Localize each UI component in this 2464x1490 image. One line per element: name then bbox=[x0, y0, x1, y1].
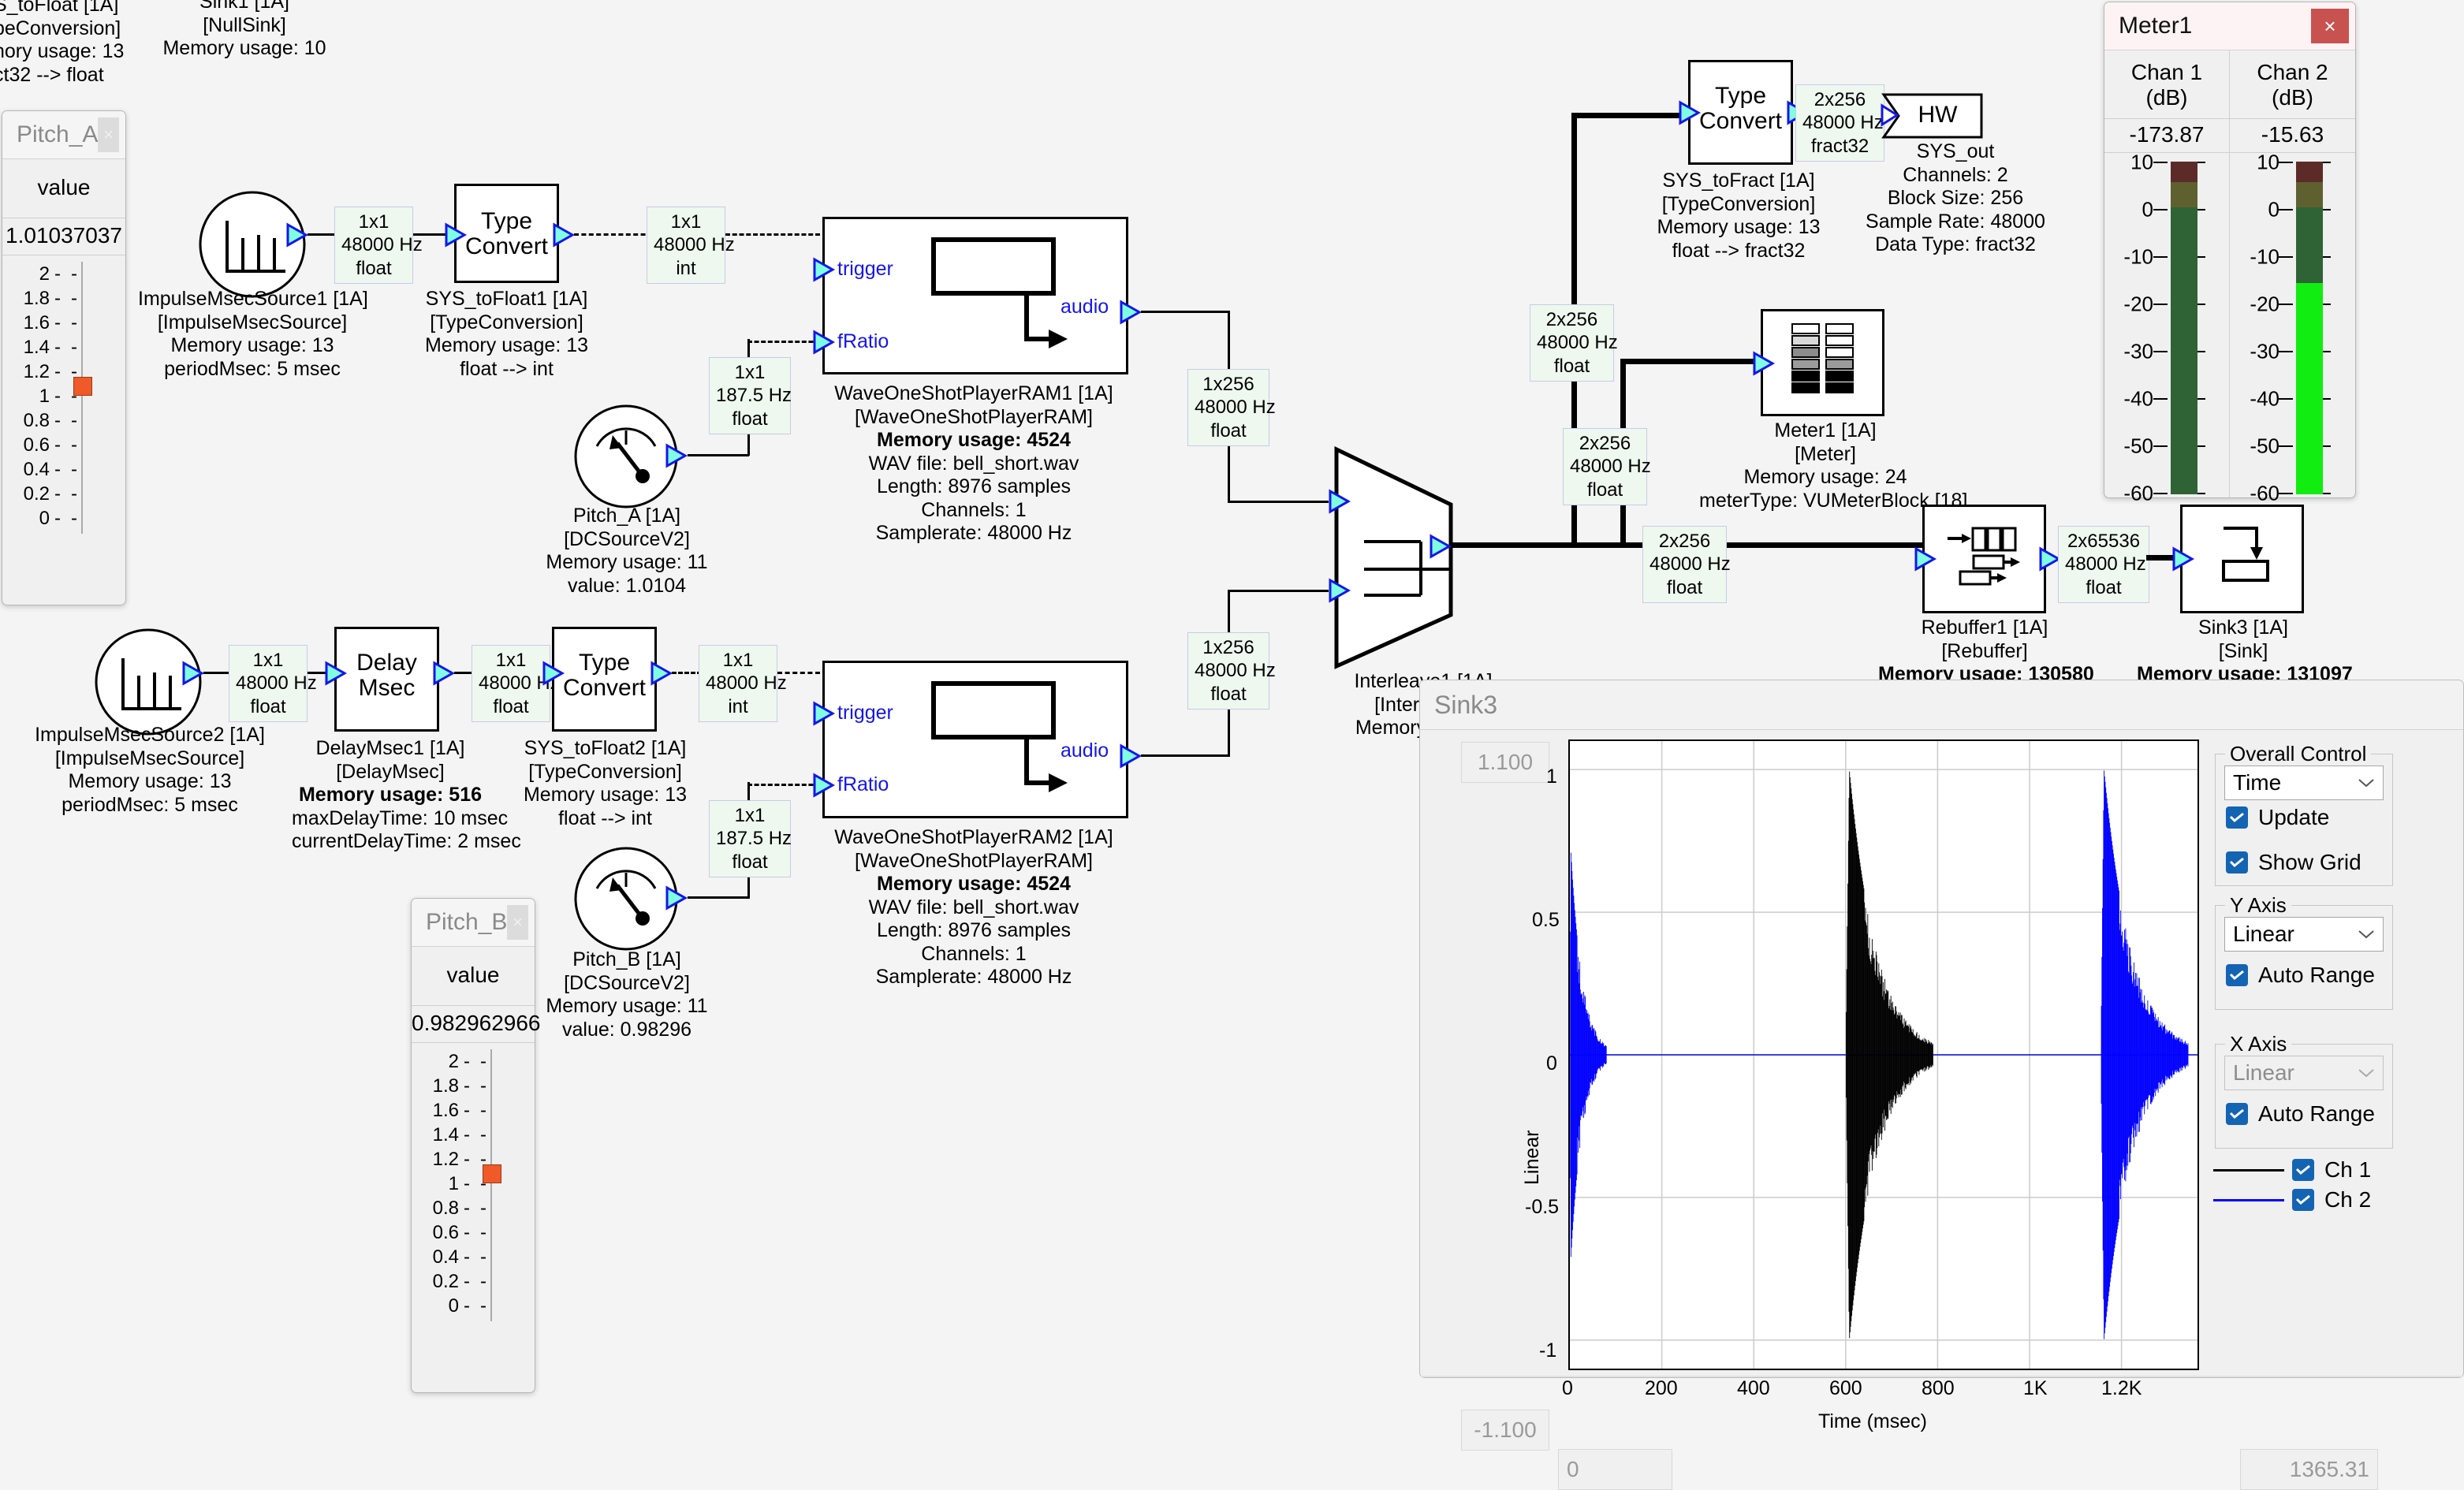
tick-dash: - bbox=[464, 1271, 476, 1293]
tick-dash: - bbox=[54, 508, 67, 530]
caption-hw-out: SYS_out Channels: 2 Block Size: 256 Samp… bbox=[1837, 140, 2074, 257]
title-line: Convert bbox=[454, 234, 559, 259]
caption-line: periodMsec: 5 msec bbox=[32, 794, 268, 818]
port-in-fratio-2[interactable] bbox=[812, 773, 836, 798]
signal-line: 48000 Hz bbox=[706, 672, 770, 695]
port-in-interleave-2[interactable] bbox=[1328, 578, 1351, 603]
port-in-meter1[interactable] bbox=[1752, 351, 1776, 376]
tick-row: 1-- bbox=[412, 1172, 535, 1196]
group-title-overall-control: Overall Control bbox=[2225, 742, 2371, 766]
window-titlebar-meter1[interactable]: Meter1 × bbox=[2104, 2, 2355, 50]
slider-thumb-pitch-b[interactable] bbox=[483, 1164, 501, 1183]
checkbox-box[interactable] bbox=[2226, 806, 2248, 829]
caption-line: [Rebuffer] bbox=[1878, 640, 2091, 664]
signal-label-pitchb: 1x1 187.5 Hz float bbox=[709, 800, 791, 877]
player-waveform-icon-1 bbox=[930, 237, 1072, 359]
caption-impulsemsecsource2: ImpulseMsecSource2 [1A] [ImpulseMsecSour… bbox=[32, 724, 268, 817]
bus-meter-in bbox=[1620, 359, 1758, 364]
title-line: Type bbox=[552, 650, 657, 676]
signal-label-player2-out: 1x256 48000 Hz float bbox=[1187, 632, 1269, 710]
tick-label: 1.2 bbox=[2, 361, 54, 383]
tick-dash: - bbox=[464, 1198, 476, 1220]
caption-line: [DelayMsec] bbox=[292, 761, 489, 784]
wire-siglabel-to-tf1 bbox=[413, 233, 448, 236]
tick-label: 0.2 bbox=[412, 1271, 464, 1293]
signal-label-rebuffer-in: 2x256 48000 Hz float bbox=[1642, 526, 1727, 603]
tick-row: 0.4-- bbox=[412, 1245, 535, 1269]
tick-label: 1.4 bbox=[412, 1124, 464, 1146]
tick-label: 1 bbox=[412, 1173, 464, 1195]
meter-tick-label: -30 bbox=[2250, 340, 2279, 364]
slider-track-pitch-b bbox=[490, 1049, 492, 1321]
checkbox-show-grid[interactable]: Show Grid bbox=[2226, 850, 2361, 875]
caption-line: [DCSourceV2] bbox=[520, 972, 733, 996]
meter-scale-chan1: 10 0 -10 -20 -30 -40 -50 -60 bbox=[2104, 153, 2229, 500]
y-tick-label: 0.5 bbox=[1532, 909, 1560, 932]
caption-line: [WaveOneShotPlayerRAM] bbox=[820, 406, 1128, 430]
tick-label: 0 bbox=[412, 1295, 464, 1317]
legend-entry-ch1[interactable]: Ch 1 bbox=[2213, 1157, 2371, 1183]
window-titlebar-pitch-b[interactable]: Pitch_B × bbox=[412, 899, 535, 947]
caption-line-bold: Memory usage: 516 bbox=[299, 784, 482, 806]
caption-line: [ImpulseMsecSource] bbox=[138, 311, 367, 335]
meter-tick-label: 10 bbox=[2257, 151, 2279, 175]
checkbox-box-ch2[interactable] bbox=[2292, 1189, 2314, 1211]
tick-dash: - bbox=[464, 1075, 476, 1097]
wire-pitchb-to-fratio2 bbox=[747, 784, 820, 786]
caption-line: SYS_toFract [1A] bbox=[1624, 169, 1853, 193]
meter-header-chan1: Chan 1 (dB) bbox=[2104, 50, 2229, 118]
port-in-fratio-1[interactable] bbox=[812, 330, 836, 355]
signal-label-tf2-out: 1x1 48000 Hz int bbox=[699, 645, 777, 722]
window-titlebar-pitch-a[interactable]: Pitch_A × bbox=[2, 111, 125, 159]
caption-sys-tofract: SYS_toFract [1A] [TypeConversion] Memory… bbox=[1624, 169, 1853, 263]
signal-line: 48000 Hz bbox=[479, 672, 543, 695]
meter-band-green bbox=[2171, 207, 2197, 494]
check-icon bbox=[2229, 970, 2245, 981]
signal-label-player1-out: 1x256 48000 Hz float bbox=[1187, 369, 1269, 446]
port-in-tofloat1[interactable] bbox=[444, 222, 468, 248]
block-pitch-a-source[interactable] bbox=[573, 404, 679, 513]
meter-value-chan2: -15.63 bbox=[2230, 118, 2355, 153]
tick-label: 0.6 bbox=[2, 434, 54, 456]
wire-player1-out bbox=[1141, 311, 1230, 313]
player-waveform-icon-2 bbox=[930, 680, 1072, 803]
title-line: Msec bbox=[334, 676, 439, 701]
meter-header-chan2: Chan 2 (dB) bbox=[2230, 50, 2355, 118]
caption-line: [NullSink] bbox=[142, 14, 347, 38]
meter-band-green-dim bbox=[2296, 207, 2323, 283]
caption-line: WAV file: bell_short.wav bbox=[820, 896, 1128, 920]
caption-line: Memory usage: 13 bbox=[509, 784, 702, 807]
checkbox-y-auto-range[interactable]: Auto Range bbox=[2226, 963, 2375, 988]
checkbox-label-y-auto-range: Auto Range bbox=[2258, 963, 2375, 988]
y-tick-label: -1 bbox=[1539, 1339, 1556, 1362]
meter-header-line: (dB) bbox=[2104, 85, 2229, 110]
check-icon bbox=[2295, 1194, 2311, 1205]
value-cell-pitch-a[interactable]: 1.01037037 bbox=[2, 218, 125, 255]
signal-line: 1x1 bbox=[236, 649, 300, 672]
signal-line: float bbox=[1570, 479, 1640, 501]
tick-label: 1.6 bbox=[2, 312, 54, 334]
signal-line: 2x256 bbox=[1650, 530, 1720, 553]
gauge-icon bbox=[573, 404, 679, 509]
caption-line: WAV file: bell_short.wav bbox=[820, 453, 1128, 476]
port-out-pitch-b[interactable] bbox=[665, 885, 688, 911]
partial-block-caption-nullsink: Sink1 [1A] [NullSink] Memory usage: 10 bbox=[142, 0, 347, 61]
x-tick-label: 800 bbox=[1922, 1377, 1955, 1400]
tick-dash: - bbox=[67, 434, 81, 456]
wire-tf1-to-trigger1 bbox=[574, 233, 653, 236]
signal-line: 187.5 Hz bbox=[716, 384, 784, 407]
signal-line: float bbox=[341, 257, 406, 280]
meter-tick-label: -10 bbox=[2123, 245, 2153, 270]
port-out-tofloat1[interactable] bbox=[552, 222, 576, 248]
port-label-trigger-2: trigger bbox=[837, 702, 893, 725]
chevron-down-icon bbox=[2358, 929, 2375, 940]
scope-plot-area[interactable] bbox=[1568, 739, 2199, 1370]
signal-line: float bbox=[479, 695, 543, 718]
x-axis-scale-value: Linear bbox=[2233, 1060, 2294, 1086]
y-tick-label: 1 bbox=[1546, 765, 1557, 788]
tick-dash: - bbox=[54, 386, 67, 408]
x-tick-label: 1.2K bbox=[2101, 1377, 2142, 1400]
caption-line: Length: 8976 samples bbox=[820, 919, 1128, 943]
tick-label: 1.8 bbox=[412, 1075, 464, 1097]
overall-control-value: Time bbox=[2233, 770, 2281, 795]
wire-player2-out bbox=[1141, 754, 1230, 757]
scope-bottom-strip bbox=[1420, 1376, 2463, 1377]
tick-row: 1.2-- bbox=[2, 359, 125, 384]
port-in-interleave-1[interactable] bbox=[1328, 489, 1351, 514]
tick-dash: - bbox=[67, 337, 81, 359]
tick-dash: - bbox=[476, 1222, 490, 1244]
window-pitch-a[interactable]: Pitch_A × value 1.01037037 2-- 1.8-- 1.6… bbox=[2, 110, 126, 605]
tick-dash: - bbox=[54, 263, 67, 285]
caption-line: value: 1.0104 bbox=[520, 575, 733, 598]
meter-tick-label: 0 bbox=[2268, 198, 2279, 222]
caption-pitch-a-source: Pitch_A [1A] [DCSourceV2] Memory usage: … bbox=[520, 505, 733, 598]
tick-dash: - bbox=[476, 1246, 490, 1268]
caption-line: Memory usage: 13 bbox=[410, 334, 603, 358]
caption-line: Data Type: fract32 bbox=[1837, 233, 2074, 257]
x-tick-label: 200 bbox=[1645, 1377, 1678, 1400]
signal-label-imp1-out: 1x1 48000 Hz float bbox=[334, 207, 413, 284]
tick-dash: - bbox=[67, 312, 81, 334]
wire-siglabel-to-trigger2 bbox=[777, 672, 820, 674]
port-label-trigger-1: trigger bbox=[837, 258, 893, 281]
caption-line: float --> fract32 bbox=[1624, 240, 1853, 263]
legend-label-ch1: Ch 1 bbox=[2324, 1157, 2371, 1183]
chevron-down-icon bbox=[2358, 1067, 2375, 1078]
port-out-tofloat2[interactable] bbox=[650, 661, 673, 686]
meter-tick-label: -60 bbox=[2123, 482, 2153, 506]
caption-line: Pitch_A [1A] bbox=[520, 505, 733, 528]
checkbox-box[interactable] bbox=[2226, 851, 2248, 874]
tick-label: 0.2 bbox=[2, 483, 54, 505]
signal-line: 2x256 bbox=[1537, 308, 1607, 331]
caption-line: Meter1 [1A] bbox=[1699, 419, 1951, 443]
signal-label-tf1-out: 1x1 48000 Hz int bbox=[647, 207, 725, 284]
y-tick-label: -0.5 bbox=[1525, 1196, 1559, 1219]
window-sink3-scope[interactable]: Sink3 1.100 -1.100 1365.31 0 Linear 1 0.… bbox=[1419, 680, 2464, 1378]
signal-line: float bbox=[1195, 683, 1262, 706]
port-label-fratio-2: fRatio bbox=[837, 773, 889, 796]
port-label-audio-2: audio bbox=[1061, 739, 1109, 762]
window-pitch-b[interactable]: Pitch_B × value 0.982962966 2-- 1.8-- 1.… bbox=[411, 898, 535, 1393]
tick-dash: - bbox=[67, 483, 81, 505]
caption-line: meterType: VUMeterBlock [18] bbox=[1699, 490, 1951, 513]
tick-label: 1.6 bbox=[412, 1100, 464, 1122]
y-axis-scale-select[interactable]: Linear bbox=[2224, 917, 2384, 952]
x-tick-label: 0 bbox=[1562, 1377, 1573, 1400]
tick-dash: - bbox=[464, 1149, 476, 1171]
caption-line: WaveOneShotPlayerRAM2 [1A] bbox=[820, 826, 1128, 850]
tick-dash: - bbox=[54, 459, 67, 481]
value-cell-pitch-b[interactable]: 0.982962966 bbox=[412, 1006, 535, 1043]
caption-line: float --> int bbox=[410, 358, 603, 382]
caption-line: SYS_toFloat2 [1A] bbox=[509, 737, 702, 761]
wire-pitcha-out bbox=[688, 454, 749, 456]
caption-line: Memory usage: 24 bbox=[1699, 466, 1951, 490]
x-tick-label: 400 bbox=[1737, 1377, 1770, 1400]
tick-label: 0.4 bbox=[412, 1246, 464, 1268]
caption-line: ImpulseMsecSource2 [1A] bbox=[32, 724, 268, 747]
block-title-sys-tofloat2: Type Convert bbox=[552, 650, 657, 700]
tick-row: 1.8-- bbox=[2, 286, 125, 311]
legend-label-ch2: Ch 2 bbox=[2324, 1187, 2371, 1212]
caption-line: Memory usage: 13 bbox=[32, 770, 268, 794]
checkbox-update[interactable]: Update bbox=[2226, 805, 2329, 830]
meter-header-line: Chan 2 bbox=[2230, 60, 2355, 85]
slider-pitch-a[interactable]: 2-- 1.8-- 1.6-- 1.4-- 1.2-- 1-- 0.8-- 0.… bbox=[2, 255, 125, 546]
caption-line-bold: Memory usage: 4524 bbox=[877, 429, 1071, 451]
port-in-tofloat2[interactable] bbox=[542, 661, 565, 686]
x-range-right-box[interactable]: 0 bbox=[1558, 1449, 1672, 1490]
window-title-sink3: Sink3 bbox=[1420, 691, 1497, 720]
y-range-bottom-box[interactable]: -1.100 bbox=[1461, 1410, 1549, 1451]
port-out-impulse1[interactable] bbox=[285, 222, 309, 248]
close-icon[interactable]: × bbox=[98, 117, 119, 152]
close-icon[interactable]: × bbox=[507, 905, 528, 940]
tick-dash: - bbox=[67, 263, 81, 285]
tick-row: 2-- bbox=[2, 262, 125, 286]
signal-line: 1x256 bbox=[1195, 373, 1262, 396]
tick-label: 0.8 bbox=[2, 410, 54, 432]
x-axis-scale-select[interactable]: Linear bbox=[2224, 1056, 2384, 1090]
rebuffer-icon bbox=[1946, 526, 2025, 591]
tick-row: 0.2-- bbox=[412, 1269, 535, 1294]
caption-waveoneshotplayerram1: WaveOneShotPlayerRAM1 [1A] [WaveOneShotP… bbox=[820, 382, 1128, 546]
block-interleave1[interactable] bbox=[1333, 445, 1455, 674]
title-line: Delay bbox=[334, 650, 439, 676]
port-in-sink3[interactable] bbox=[2171, 546, 2195, 572]
meter-band-yellow bbox=[2171, 182, 2197, 207]
signal-line: int bbox=[654, 257, 718, 280]
tick-row: 1.2-- bbox=[412, 1147, 535, 1172]
checkbox-box[interactable] bbox=[2226, 1103, 2248, 1125]
bus-tofract-in bbox=[1571, 113, 1688, 118]
tick-dash: - bbox=[476, 1051, 490, 1073]
caption-meter1-block: Meter1 [1A] [Meter] Memory usage: 24 met… bbox=[1699, 419, 1951, 512]
checkbox-x-auto-range[interactable]: Auto Range bbox=[2226, 1101, 2375, 1127]
meter-tick-label: -30 bbox=[2123, 340, 2153, 364]
caption-sys-tofloat1: SYS_toFloat1 [1A] [TypeConversion] Memor… bbox=[410, 288, 603, 381]
column-header-pitch-b: value bbox=[412, 947, 535, 1006]
meter-tick-label: -40 bbox=[2250, 387, 2279, 412]
caption-line: Memory usage: 11 bbox=[520, 551, 733, 575]
port-out-interleave[interactable] bbox=[1429, 534, 1452, 559]
port-in-tofract[interactable] bbox=[1678, 100, 1702, 125]
tick-dash: - bbox=[476, 1124, 490, 1146]
tick-dash: - bbox=[54, 337, 67, 359]
signal-line: float bbox=[1195, 419, 1262, 442]
legend-line-ch1 bbox=[2213, 1169, 2284, 1172]
tick-dash: - bbox=[54, 483, 67, 505]
tick-row: 0.8-- bbox=[412, 1196, 535, 1220]
window-title-pitch-b: Pitch_B bbox=[412, 909, 507, 936]
tick-label: 1.2 bbox=[412, 1149, 464, 1171]
port-out-audio-1[interactable] bbox=[1119, 300, 1143, 325]
tick-dash: - bbox=[464, 1124, 476, 1146]
caption-line: Rebuffer1 [1A] bbox=[1878, 616, 2091, 640]
tick-label: 0.4 bbox=[2, 459, 54, 481]
caption-line: Memory usage: 10 bbox=[142, 37, 347, 61]
tick-row: 1.4-- bbox=[2, 335, 125, 359]
caption-impulsemsecsource1: ImpulseMsecSource1 [1A] [ImpulseMsecSour… bbox=[138, 288, 367, 381]
tick-row: 1.6-- bbox=[2, 311, 125, 335]
tick-dash: - bbox=[476, 1100, 490, 1122]
meter-tick-label: 0 bbox=[2142, 198, 2153, 222]
close-icon[interactable]: × bbox=[2311, 9, 2349, 43]
signal-line: float bbox=[2065, 576, 2142, 599]
tick-label: 0 bbox=[2, 508, 54, 530]
tick-row: 0-- bbox=[2, 506, 125, 531]
tick-row: 0.4-- bbox=[2, 457, 125, 482]
caption-line: [Meter] bbox=[1699, 443, 1951, 467]
signal-label-pitcha: 1x1 187.5 Hz float bbox=[709, 357, 791, 434]
meter-scale-chan2: 10 0 -10 -20 -30 -40 -50 -60 bbox=[2230, 153, 2355, 500]
slider-thumb-pitch-a[interactable] bbox=[73, 377, 92, 396]
title-line: Type bbox=[454, 209, 559, 234]
caption-line: [DCSourceV2] bbox=[520, 528, 733, 552]
caption-pitch-b-source: Pitch_B [1A] [DCSourceV2] Memory usage: … bbox=[520, 948, 733, 1041]
caption-line: SYS_out bbox=[1837, 140, 2074, 164]
tick-dash: - bbox=[54, 410, 67, 432]
port-out-pitch-a[interactable] bbox=[665, 443, 688, 468]
caption-sys-tofloat2: SYS_toFloat2 [1A] [TypeConversion] Memor… bbox=[509, 737, 702, 830]
checkbox-box-ch1[interactable] bbox=[2292, 1159, 2314, 1181]
y-tick-label: 0 bbox=[1546, 1052, 1557, 1075]
signal-label-imp2-out: 1x1 48000 Hz float bbox=[229, 645, 308, 722]
checkbox-label-show-grid: Show Grid bbox=[2258, 850, 2361, 875]
window-meter1[interactable]: Meter1 × Chan 1 (dB) -173.87 10 0 -10 -2… bbox=[2104, 2, 2356, 498]
wire-siglabel-to-trigger1 bbox=[725, 233, 820, 236]
port-out-audio-2[interactable] bbox=[1119, 743, 1143, 769]
signal-label-rebuffer-out: 2x65536 48000 Hz float bbox=[2058, 526, 2149, 603]
meter-tick-label: -50 bbox=[2250, 434, 2279, 459]
caption-line: currentDelayTime: 2 msec bbox=[292, 830, 489, 854]
signal-line: 1x1 bbox=[716, 361, 784, 384]
signal-line: 48000 Hz bbox=[654, 233, 718, 256]
title-line: Type bbox=[1688, 84, 1793, 109]
caption-line: [TypeConversion] bbox=[509, 761, 702, 784]
port-in-trigger-1[interactable] bbox=[812, 257, 836, 282]
group-title-x-axis: X Axis bbox=[2225, 1032, 2291, 1056]
tick-dash: - bbox=[54, 312, 67, 334]
x-range-left-box[interactable]: 1365.31 bbox=[2240, 1449, 2378, 1490]
chevron-down-icon bbox=[2358, 777, 2375, 788]
caption-line: SYS_toFloat1 [1A] bbox=[410, 288, 603, 311]
tick-label: 1.4 bbox=[2, 337, 54, 359]
gauge-icon bbox=[573, 846, 679, 952]
signal-line: float bbox=[1537, 355, 1607, 378]
tick-row: 0-- bbox=[412, 1294, 535, 1318]
y-range-top-box[interactable]: 1.100 bbox=[1461, 742, 1549, 783]
checkbox-box[interactable] bbox=[2226, 964, 2248, 986]
block-title-sys-tofloat1: Type Convert bbox=[454, 209, 559, 259]
y-axis-scale-value: Linear bbox=[2233, 922, 2294, 947]
meter-channel-1: Chan 1 (dB) -173.87 10 0 -10 -20 -30 -40… bbox=[2104, 50, 2230, 497]
caption-delaymsec1: DelayMsec1 [1A] [DelayMsec] Memory usage… bbox=[292, 737, 489, 854]
overall-control-select[interactable]: Time bbox=[2224, 765, 2384, 800]
wire-impulse1-to-tf1 bbox=[308, 233, 337, 236]
wire-player1-to-interleave bbox=[1228, 501, 1329, 503]
caption-line: Channels: 2 bbox=[1837, 164, 2074, 188]
port-in-trigger-2[interactable] bbox=[812, 701, 836, 726]
check-icon bbox=[2229, 1108, 2245, 1119]
meter-channel-2: Chan 2 (dB) -15.63 10 0 -10 -20 -30 -40 … bbox=[2230, 50, 2355, 497]
tick-row: 1.4-- bbox=[412, 1123, 535, 1147]
caption-line: Sink3 [1A] bbox=[2137, 616, 2350, 640]
caption-line: Memory usage: 13 bbox=[1624, 216, 1853, 240]
tick-dash: - bbox=[464, 1173, 476, 1195]
tick-dash: - bbox=[476, 1271, 490, 1293]
signal-line: 48000 Hz bbox=[1650, 553, 1720, 576]
port-out-impulse2[interactable] bbox=[181, 661, 205, 686]
signal-line: 187.5 Hz bbox=[716, 827, 784, 850]
window-titlebar-sink3[interactable]: Sink3 bbox=[1420, 680, 2463, 730]
signal-line: 1x256 bbox=[1195, 636, 1262, 659]
signal-line: 2x256 bbox=[1570, 432, 1640, 455]
block-pitch-b-source[interactable] bbox=[573, 846, 679, 955]
slider-pitch-b[interactable]: 2-- 1.8-- 1.6-- 1.4-- 1.2-- 1-- 0.8-- 0.… bbox=[412, 1043, 535, 1333]
signal-line: float bbox=[236, 695, 300, 718]
caption-line: DelayMsec1 [1A] bbox=[292, 737, 489, 761]
legend-entry-ch2[interactable]: Ch 2 bbox=[2213, 1187, 2371, 1212]
checkbox-label-x-auto-range: Auto Range bbox=[2258, 1101, 2375, 1127]
tick-dash: - bbox=[67, 288, 81, 310]
tick-dash: - bbox=[54, 434, 67, 456]
tick-dash: - bbox=[54, 288, 67, 310]
tick-dash: - bbox=[464, 1295, 476, 1317]
caption-line: Samplerate: 48000 Hz bbox=[820, 966, 1128, 989]
caption-line: Sample Rate: 48000 bbox=[1837, 210, 2074, 234]
vu-meter-icon bbox=[1791, 323, 1855, 400]
signal-label-delay-out: 1x1 48000 Hz float bbox=[472, 645, 550, 722]
wire-pitcha-to-fratio1 bbox=[747, 341, 820, 343]
meter-tick-label: -10 bbox=[2250, 245, 2279, 270]
port-out-delaymsec1[interactable] bbox=[432, 661, 456, 686]
caption-line: Channels: 1 bbox=[820, 499, 1128, 523]
signal-line: 1x1 bbox=[479, 649, 543, 672]
title-line: Convert bbox=[1688, 109, 1793, 134]
tick-row: 1.6-- bbox=[412, 1098, 535, 1123]
port-in-delaymsec1[interactable] bbox=[324, 661, 348, 686]
signal-line: 48000 Hz bbox=[1537, 331, 1607, 354]
port-in-rebuffer1[interactable] bbox=[1914, 546, 1937, 572]
port-label-audio-1: audio bbox=[1061, 296, 1109, 318]
